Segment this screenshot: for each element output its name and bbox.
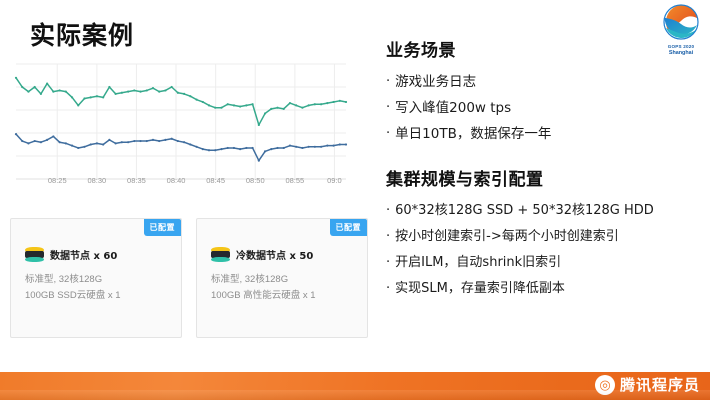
database-icon [211, 247, 230, 262]
x-tick-label: 08:45 [206, 176, 225, 185]
page-title: 实际案例 [30, 16, 134, 52]
slide-canvas: GOPS 2020 Shanghai 实际案例 08:2508:3008:350… [0, 0, 710, 400]
card-title: 冷数据节点 x 50 [236, 247, 313, 262]
card-spec-line-2: 100GB 高性能云硬盘 x 1 [211, 287, 316, 301]
x-tick-label: 08:35 [127, 176, 146, 185]
bullet-dot: · [386, 95, 390, 121]
node-cards: 已配置 数据节点 x 60 标准型, 32核128G 100GB SSD云硬盘 … [10, 218, 370, 340]
bullet-text: 写入峰值200w tps [395, 95, 511, 121]
section-heading: 集群规模与索引配置 [386, 165, 704, 190]
cold-data-node-card[interactable]: 已配置 冷数据节点 x 50 标准型, 32核128G 100GB 高性能云硬盘… [196, 218, 368, 338]
chart-svg [12, 58, 350, 193]
x-tick-label: 08:55 [285, 176, 304, 185]
section-cluster-config: 集群规模与索引配置 · 60*32核128G SSD + 50*32核128G … [386, 165, 704, 302]
bullet-dot: · [386, 224, 390, 250]
bullet-item: · 游戏业务日志 [386, 69, 704, 95]
status-badge: 已配置 [330, 219, 368, 236]
bullet-text: 单日10TB，数据保存一年 [395, 121, 551, 147]
bullet-item: · 单日10TB，数据保存一年 [386, 121, 704, 147]
status-badge: 已配置 [144, 219, 182, 236]
bullet-text: 开启ILM，自动shrink旧索引 [395, 250, 561, 275]
x-tick-label: 09:0 [327, 176, 342, 185]
bullet-dot: · [386, 276, 390, 302]
bullet-dot: · [386, 198, 390, 224]
section-business-scenario: 业务场景 · 游戏业务日志 · 写入峰值200w tps · 单日10TB，数据… [386, 36, 704, 147]
bullet-item: · 写入峰值200w tps [386, 95, 704, 121]
bullet-item: · 60*32核128G SSD + 50*32核128G HDD [386, 198, 704, 224]
footer-brand-text: 腾讯程序员 [620, 374, 700, 395]
card-spec-line-2: 100GB SSD云硬盘 x 1 [25, 287, 121, 301]
footer-bar: ◎ 腾讯程序员 [0, 372, 710, 400]
bullet-dot: · [386, 69, 390, 95]
bullet-dot: · [386, 121, 390, 147]
bullet-text: 游戏业务日志 [395, 69, 476, 95]
data-node-card[interactable]: 已配置 数据节点 x 60 标准型, 32核128G 100GB SSD云硬盘 … [10, 218, 182, 338]
database-icon [25, 247, 44, 262]
content-column: 业务场景 · 游戏业务日志 · 写入峰值200w tps · 单日10TB，数据… [386, 36, 704, 302]
card-spec-line-1: 标准型, 32核128G [211, 271, 288, 285]
x-tick-label: 08:40 [167, 176, 186, 185]
metrics-line-chart [12, 58, 350, 193]
card-title: 数据节点 x 60 [50, 247, 117, 262]
section-heading: 业务场景 [386, 36, 704, 61]
bullet-item: · 开启ILM，自动shrink旧索引 [386, 250, 704, 276]
bullet-item: · 实现SLM，存量索引降低副本 [386, 276, 704, 302]
bullet-text: 按小时创建索引->每两个小时创建索引 [395, 224, 619, 249]
bullet-item: · 按小时创建索引->每两个小时创建索引 [386, 224, 704, 250]
card-header: 数据节点 x 60 [25, 247, 117, 262]
card-spec-line-1: 标准型, 32核128G [25, 271, 102, 285]
chart-x-axis-labels: 08:2508:3008:3508:4008:4508:5008:5509:0 [12, 176, 350, 190]
x-tick-label: 08:30 [87, 176, 106, 185]
weibo-icon: ◎ [595, 375, 615, 395]
card-header: 冷数据节点 x 50 [211, 247, 313, 262]
bullet-dot: · [386, 250, 390, 276]
bullet-text: 60*32核128G SSD + 50*32核128G HDD [395, 198, 654, 223]
footer-brand: ◎ 腾讯程序员 [595, 374, 700, 395]
x-tick-label: 08:25 [48, 176, 67, 185]
x-tick-label: 08:50 [246, 176, 265, 185]
bullet-text: 实现SLM，存量索引降低副本 [395, 276, 565, 301]
